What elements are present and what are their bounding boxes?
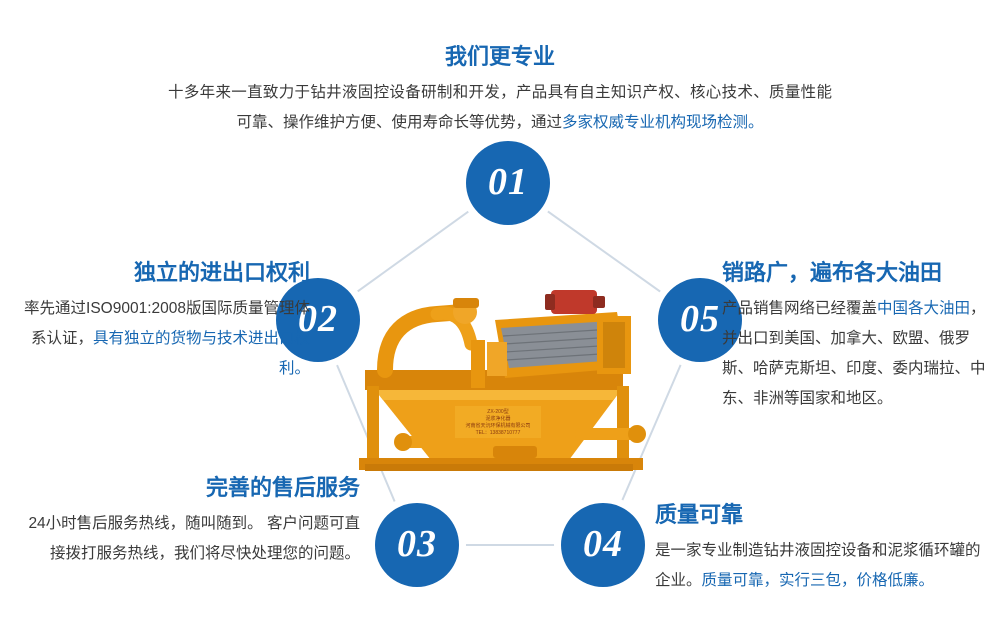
- feature-title-04: 质量可靠: [655, 500, 985, 530]
- feature-body-01-part-2: 多家权威专业机构现场检测。: [562, 114, 764, 131]
- infographic-stage: ZX-200型 泥浆净化器 河南省天沅环保机械有限公司 TEL：13838710…: [0, 0, 1000, 642]
- number-badge-03-label: 03: [397, 522, 437, 566]
- svg-text:河南省天沅环保机械有限公司: 河南省天沅环保机械有限公司: [465, 422, 530, 429]
- feature-body-01: 十多年来一直致力于钻井液固控设备研制和开发，产品具有自主知识产权、核心技术、质量…: [168, 78, 832, 138]
- feature-block-03: 完善的售后服务 24小时售后服务热线，随叫随到。 客户问题可直接拨打服务热线，我…: [18, 473, 360, 569]
- number-badge-01: 01: [466, 141, 550, 225]
- feature-title-05: 销路广，遍布各大油田: [722, 258, 990, 288]
- number-badge-04: 04: [561, 503, 645, 587]
- feature-body-05: 产品销售网络已经覆盖中国各大油田，并出口到美国、加拿大、欧盟、俄罗斯、哈萨克斯坦…: [722, 294, 990, 414]
- feature-body-03-part-1: 24小时售后服务热线，随叫随到。 客户问题可直接拨打服务热线，我们将尽快处理您的…: [28, 515, 360, 562]
- feature-body-02: 率先通过ISO9001:2008版国际质量管理体系认证，具有独立的货物与技术进出…: [18, 294, 310, 384]
- svg-text:ZX-200型: ZX-200型: [487, 408, 508, 415]
- number-badge-03: 03: [375, 503, 459, 587]
- svg-text:TEL：13838710777: TEL：13838710777: [476, 430, 521, 436]
- feature-body-03: 24小时售后服务热线，随叫随到。 客户问题可直接拨打服务热线，我们将尽快处理您的…: [18, 509, 360, 569]
- number-badge-01-label: 01: [488, 160, 528, 204]
- feature-body-04-part-2: 质量可靠，实行三包，价格低廉。: [702, 572, 935, 589]
- svg-text:泥浆净化器: 泥浆净化器: [485, 415, 510, 422]
- feature-block-05: 销路广，遍布各大油田 产品销售网络已经覆盖中国各大油田，并出口到美国、加拿大、欧…: [722, 258, 990, 414]
- feature-block-01: 我们更专业 十多年来一直致力于钻井液固控设备研制和开发，产品具有自主知识产权、核…: [168, 42, 832, 138]
- feature-body-04: 是一家专业制造钻井液固控设备和泥浆循环罐的企业。质量可靠，实行三包，价格低廉。: [655, 536, 985, 596]
- number-badge-05-label: 05: [680, 297, 720, 341]
- feature-block-02: 独立的进出口权利 率先通过ISO9001:2008版国际质量管理体系认证，具有独…: [18, 258, 310, 384]
- feature-body-02-part-2: 具有独立的货物与技术进出口权利。: [93, 330, 310, 377]
- feature-title-03: 完善的售后服务: [18, 473, 360, 503]
- feature-title-02: 独立的进出口权利: [18, 258, 310, 288]
- number-badge-04-label: 04: [583, 522, 623, 566]
- feature-title-01: 我们更专业: [168, 42, 832, 72]
- feature-body-05-part-1: 产品销售网络已经覆盖: [722, 300, 877, 317]
- machine-illustration: ZX-200型 泥浆净化器 河南省天沅环保机械有限公司 TEL：13838710…: [345, 250, 655, 485]
- feature-body-05-part-2: 中国各大油田: [877, 300, 970, 317]
- feature-block-04: 质量可靠 是一家专业制造钻井液固控设备和泥浆循环罐的企业。质量可靠，实行三包，价…: [655, 500, 985, 596]
